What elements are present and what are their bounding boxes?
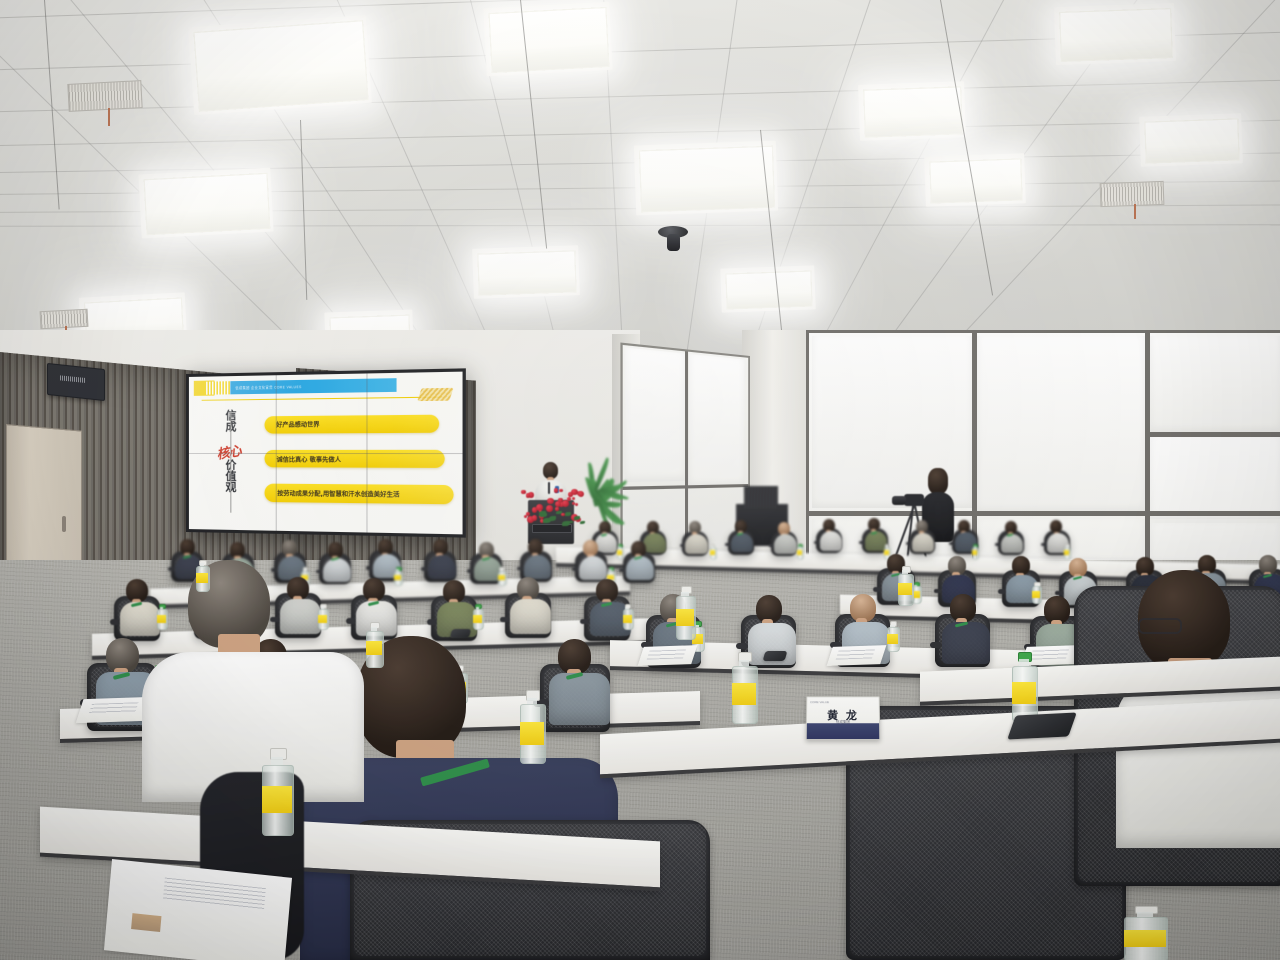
presentation-slide: 信成集团 企业文化宣贯 CORE VALUES 信成 价值观 核心 好产品感动世…: [189, 372, 463, 535]
name-card-face: CORE VALUE 黄 龙 信成集团: [806, 696, 881, 740]
attendee-torso: [524, 555, 552, 579]
water-bottle[interactable]: [366, 622, 382, 666]
name-card-subtitle: 信成集团: [807, 720, 879, 725]
water-bottle[interactable]: [617, 544, 622, 558]
chair-armrest: [572, 567, 579, 571]
ceiling-light-panel: [489, 7, 610, 73]
flower: [532, 515, 538, 521]
water-bottle[interactable]: [262, 748, 292, 834]
attendee: [912, 520, 935, 554]
attendee-torso: [731, 533, 753, 553]
ceiling-light-panel: [929, 158, 1022, 203]
chair-armrest: [580, 619, 590, 624]
chair-armrest: [517, 567, 524, 571]
roller-blind[interactable]: [1150, 336, 1280, 432]
paper-text-lines: [1030, 650, 1069, 660]
slide-title-divider: [231, 411, 232, 512]
flower: [547, 498, 554, 505]
flower: [526, 512, 530, 516]
water-bottle[interactable]: [710, 544, 715, 558]
eyeglasses-icon: [1138, 618, 1182, 634]
slide-vertical-title-group: 信成 价值观 核心: [217, 410, 262, 518]
roller-blind[interactable]: [1150, 437, 1280, 519]
water-bottle[interactable]: [623, 604, 632, 628]
bottle-label: [623, 615, 632, 623]
attendee-torso: [774, 534, 796, 554]
attendee: [774, 522, 797, 556]
handout-paper[interactable]: [637, 645, 697, 666]
slide-bullet-3-text: 按劳动成果分配,用智慧和汗水创造美好生活: [277, 488, 399, 499]
smartphone[interactable]: [1007, 712, 1077, 739]
water-bottle[interactable]: [797, 544, 802, 558]
bottle-label: [732, 683, 756, 705]
slide-bullet-1-text: 好产品感动世界: [276, 420, 319, 430]
video-wall-display[interactable]: 信成集团 企业文化宣贯 CORE VALUES 信成 价值观 核心 好产品感动世…: [186, 368, 466, 537]
ceiling-light-panel: [639, 146, 775, 213]
water-bottle[interactable]: [473, 604, 482, 628]
flower: [546, 505, 553, 512]
smartphone[interactable]: [763, 651, 788, 661]
bottle-label: [1124, 930, 1166, 947]
name-tent-card: CORE VALUE 黄 龙 信成集团: [806, 696, 880, 740]
water-bottle[interactable]: [1012, 652, 1036, 720]
sprinkler-head-icon: [108, 108, 110, 126]
ceiling-light-panel: [725, 271, 812, 310]
bottle-label: [710, 550, 715, 555]
attendee-foreground-white: [142, 560, 372, 790]
bottle-label: [898, 583, 912, 595]
handout-booklet[interactable]: [104, 859, 292, 960]
flower: [559, 489, 563, 493]
bottle-label: [1064, 550, 1069, 555]
bottle-label: [1012, 682, 1036, 704]
slide-divider-rule: [202, 396, 442, 401]
attendee-torso: [1001, 534, 1023, 554]
bottle-label: [262, 786, 292, 814]
chair-armrest: [500, 617, 510, 622]
roller-blind[interactable]: [689, 354, 745, 487]
attendee-torso: [685, 534, 707, 554]
attendee: [820, 519, 843, 553]
camera-body: [904, 494, 924, 506]
ceiling-light-panel: [1144, 118, 1239, 163]
camera-lens-barrel: [892, 496, 906, 505]
slide-core-script: 核心: [215, 440, 242, 463]
hvac-vent-icon: [1100, 181, 1165, 207]
attendee-torso: [579, 556, 607, 580]
slide-bullet-2-text: 诚信比真心 敬事先做人: [277, 454, 341, 463]
ceiling-light-panel: [863, 86, 963, 137]
flower-leaf: [540, 513, 547, 517]
chair-armrest: [998, 589, 1006, 593]
bottle-label: [196, 573, 208, 583]
slide-bullet-3: 按劳动成果分配,用智慧和汗水创造美好生活: [264, 484, 453, 504]
attendee: [942, 594, 991, 667]
bottle-label: [797, 550, 802, 555]
slide-stripe-motif: [204, 381, 230, 395]
bottle-label: [676, 609, 694, 626]
hvac-vent-icon: [40, 309, 89, 329]
water-bottle[interactable]: [887, 621, 898, 650]
water-bottle[interactable]: [676, 586, 694, 638]
chair-armrest: [873, 587, 881, 591]
attendee-torso: [428, 555, 456, 579]
chair-armrest: [467, 569, 474, 573]
booklet-emblem: [131, 913, 161, 932]
attendee-torso: [912, 533, 934, 553]
attendee-torso: [626, 556, 654, 580]
speaker-grille: [60, 375, 86, 383]
window-transom: [809, 511, 1280, 516]
paper-text-lines: [647, 650, 686, 660]
chair-armrest: [421, 567, 428, 571]
paper-text-lines: [88, 703, 138, 716]
decor-sticks: [744, 486, 778, 508]
attendee-torso: [820, 531, 842, 551]
bottle-label: [617, 550, 622, 555]
attendee: [731, 520, 754, 554]
attendee: [510, 577, 552, 637]
ceiling-light-panel: [477, 250, 576, 295]
flower: [526, 493, 530, 497]
water-bottle[interactable]: [732, 652, 756, 722]
chair-armrest: [427, 619, 437, 624]
chair-armrest: [736, 643, 748, 649]
camera-lens: [667, 234, 680, 251]
attendee: [579, 540, 608, 582]
ceiling-camera-icon: [658, 226, 688, 256]
water-bottle[interactable]: [1124, 906, 1166, 960]
attendee: [524, 539, 553, 581]
water-bottle[interactable]: [898, 566, 912, 604]
attendee: [428, 539, 457, 581]
flower: [554, 488, 558, 492]
chair-armrest: [1055, 591, 1063, 595]
chair-armrest: [930, 642, 942, 648]
flower: [532, 507, 537, 512]
water-bottle[interactable]: [520, 690, 544, 762]
bottle-label: [972, 550, 977, 555]
videographer-head: [928, 468, 948, 494]
sprinkler-head-icon: [1134, 204, 1136, 219]
booklet-text-lines: [163, 877, 266, 909]
attendee-torso: [510, 599, 551, 634]
handout-paper[interactable]: [826, 645, 886, 666]
attendee: [626, 541, 655, 583]
water-bottle[interactable]: [498, 567, 505, 584]
bottle-label: [887, 634, 898, 644]
ceiling-light-panel: [1059, 8, 1173, 62]
flower: [521, 490, 525, 494]
hvac-vent-icon: [67, 80, 142, 112]
bottle-label: [520, 722, 544, 745]
name-card-corner-text: CORE VALUE: [810, 701, 829, 705]
door-handle[interactable]: [62, 516, 66, 532]
conference-room-photo: 信成集团 企业文化宣贯 CORE VALUES 信成 价值观 核心 好产品感动世…: [0, 0, 1280, 960]
video-wall-seam: [189, 453, 463, 454]
bottle-label: [498, 575, 505, 581]
ceiling-light-panel: [193, 20, 368, 112]
attendee-torso: [942, 622, 990, 664]
bottle-label: [366, 641, 382, 655]
roller-blind[interactable]: [977, 336, 1145, 512]
window-transom: [1145, 432, 1280, 437]
roller-blind[interactable]: [625, 347, 685, 482]
attendee: [685, 521, 708, 555]
chair-armrest: [110, 619, 120, 624]
water-bottle[interactable]: [1064, 544, 1069, 558]
water-bottle[interactable]: [196, 560, 208, 590]
paper-text-lines: [836, 650, 875, 660]
bottle-label: [473, 615, 482, 623]
slide-bullet-1: 好产品感动世界: [264, 414, 439, 433]
flower-leaf: [549, 516, 557, 521]
slide-header-text: 信成集团 企业文化宣贯 CORE VALUES: [235, 384, 301, 390]
attendee: [1001, 521, 1024, 555]
ceiling-light-panel: [144, 173, 271, 235]
wall-speaker: [47, 363, 105, 401]
company-logo-icon: [417, 388, 453, 401]
